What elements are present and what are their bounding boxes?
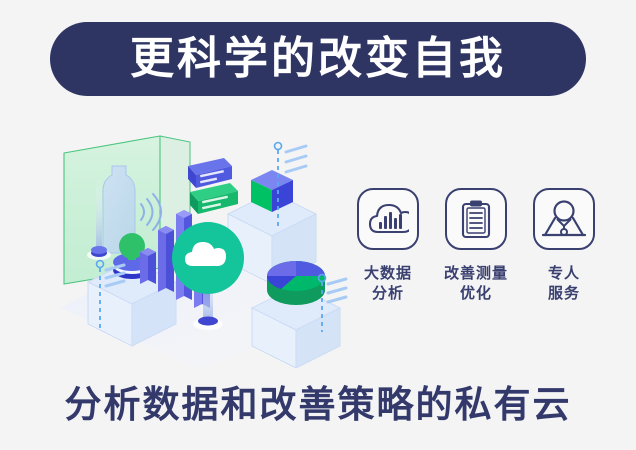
title-banner: 更科学的改变自我	[50, 22, 586, 96]
floating-badge-blue	[188, 158, 232, 188]
page-title: 更科学的改变自我	[130, 37, 506, 81]
feature-label: 改善测量 优化	[444, 264, 508, 305]
clipboard-badge	[445, 188, 507, 250]
feature-list: 大数据 分析 改善测量 优化	[352, 188, 600, 328]
feature-label: 专人 服务	[548, 264, 580, 305]
cloud-bar-chart-icon	[367, 201, 409, 237]
illustration-svg	[40, 118, 350, 368]
person-service-icon	[542, 199, 586, 239]
feature-big-data-analysis[interactable]: 大数据 分析	[352, 188, 424, 305]
main-illustration	[40, 118, 350, 368]
clipboard-icon	[459, 199, 493, 239]
tagline: 分析数据和改善策略的私有云	[0, 386, 636, 423]
cloud-bar-chart-badge	[357, 188, 419, 250]
person-service-badge	[533, 188, 595, 250]
feature-label: 大数据 分析	[364, 264, 412, 305]
feature-dedicated-service[interactable]: 专人 服务	[528, 188, 600, 305]
feature-improve-measure-optimize[interactable]: 改善测量 优化	[440, 188, 512, 305]
